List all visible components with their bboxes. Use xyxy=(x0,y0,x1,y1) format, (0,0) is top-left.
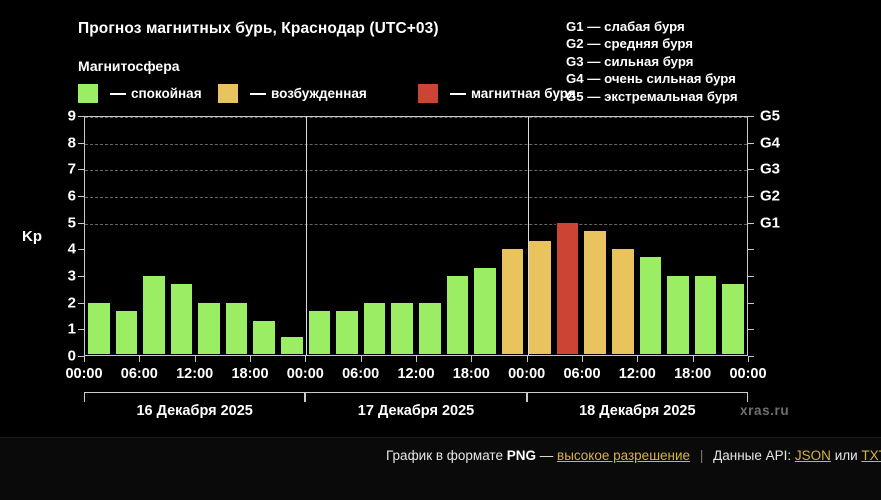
x-tick-label: 18:00 xyxy=(453,366,490,382)
y-tick-7: 7 xyxy=(42,161,76,178)
x-tick-mark xyxy=(195,356,196,362)
bar[interactable] xyxy=(583,230,607,355)
bar[interactable] xyxy=(639,256,663,355)
footer-png-prefix: График в формате xyxy=(386,448,503,463)
x-tick-label: 00:00 xyxy=(508,366,545,382)
g-scale-line-1: G1 — слабая буря xyxy=(566,18,738,35)
bar-cell xyxy=(223,117,251,355)
bar[interactable] xyxy=(280,336,304,355)
bar[interactable] xyxy=(473,267,497,355)
bar[interactable] xyxy=(390,302,414,355)
y-tick-4: 4 xyxy=(42,241,76,258)
right-tick-G2: G2 xyxy=(760,188,780,205)
x-tick-label: 18:00 xyxy=(231,366,268,382)
y-tick-3: 3 xyxy=(42,268,76,285)
y-tick-5: 5 xyxy=(42,214,76,231)
high-resolution-link[interactable]: высокое разрешение xyxy=(557,448,690,463)
x-tick-label: 06:00 xyxy=(563,366,600,382)
legend-dash-icon xyxy=(110,93,126,95)
footer-separator: | xyxy=(694,448,710,463)
legend-label-storm: магнитная буря xyxy=(471,86,576,101)
bar[interactable] xyxy=(115,310,139,355)
bar[interactable] xyxy=(225,302,249,355)
y-tick-0: 0 xyxy=(42,348,76,365)
y-axis-right: G1G2G3G4G5 xyxy=(760,116,810,356)
magnetosphere-label: Магнитосфера xyxy=(78,58,180,74)
right-tick-mark xyxy=(748,329,754,330)
x-tick-mark xyxy=(361,356,362,362)
legend-swatch-excited xyxy=(218,84,238,103)
right-tick-mark xyxy=(748,196,754,197)
x-tick-label: 00:00 xyxy=(729,366,766,382)
x-tick-mark xyxy=(84,356,85,362)
bar-cell xyxy=(499,117,527,355)
bar-cell xyxy=(388,117,416,355)
legend-label-excited: возбужденная xyxy=(271,86,367,101)
bar-cell xyxy=(168,117,196,355)
bar[interactable] xyxy=(528,240,552,355)
day-label: 16 Декабря 2025 xyxy=(136,403,252,419)
x-tick-label: 06:00 xyxy=(121,366,158,382)
bar-cell xyxy=(416,117,444,355)
legend-dash-icon xyxy=(450,93,466,95)
day-bracket xyxy=(84,392,305,402)
day-brackets: 16 Декабря 202517 Декабря 202518 Декабря… xyxy=(84,392,748,424)
footer-bar: График в формате PNG — высокое разрешени… xyxy=(0,437,881,500)
x-axis-labels: 00:0006:0012:0018:0000:0006:0012:0018:00… xyxy=(0,366,881,386)
x-tick-label: 12:00 xyxy=(397,366,434,382)
bar-cell xyxy=(250,117,278,355)
g-scale-legend: G1 — слабая буряG2 — средняя буряG3 — си… xyxy=(566,18,738,105)
day-separator xyxy=(528,117,529,355)
y-tick-9: 9 xyxy=(42,108,76,125)
x-tick-mark xyxy=(748,356,749,362)
x-tick-mark xyxy=(637,356,638,362)
bar[interactable] xyxy=(252,320,276,355)
bar[interactable] xyxy=(694,275,718,355)
bar-cell xyxy=(609,117,637,355)
bar[interactable] xyxy=(611,248,635,355)
y-axis-left: 0123456789 xyxy=(42,116,76,356)
legend-dash-icon xyxy=(250,93,266,95)
bar[interactable] xyxy=(308,310,332,355)
page-title: Прогноз магнитных бурь, Краснодар (UTC+0… xyxy=(78,20,439,38)
bar-cell xyxy=(664,117,692,355)
legend-label-calm: спокойная xyxy=(131,86,202,101)
bar[interactable] xyxy=(446,275,470,355)
day-separator xyxy=(306,117,307,355)
g-scale-line-5: G5 — экстремальная буря xyxy=(566,88,738,105)
bar[interactable] xyxy=(335,310,359,355)
bar-cell xyxy=(637,117,665,355)
g-scale-line-2: G2 — средняя буря xyxy=(566,35,738,52)
right-tick-mark xyxy=(748,223,754,224)
bar[interactable] xyxy=(197,302,221,355)
bar[interactable] xyxy=(666,275,690,355)
legend-item-calm: спокойная xyxy=(78,84,218,103)
bar-cell xyxy=(526,117,554,355)
x-tick-mark xyxy=(416,356,417,362)
right-tick-G5: G5 xyxy=(760,108,780,125)
bar-cell xyxy=(85,117,113,355)
bar[interactable] xyxy=(87,302,111,355)
json-link[interactable]: JSON xyxy=(795,448,831,463)
footer-or: или xyxy=(835,448,858,463)
bar-cell xyxy=(554,117,582,355)
x-tick-mark xyxy=(527,356,528,362)
watermark: xras.ru xyxy=(740,403,789,418)
bar-cell xyxy=(719,117,747,355)
bar-cell xyxy=(195,117,223,355)
x-tick-mark xyxy=(305,356,306,362)
footer-text: График в формате PNG — высокое разрешени… xyxy=(386,448,881,463)
x-tick-label: 00:00 xyxy=(287,366,324,382)
x-axis-ticks xyxy=(84,356,748,363)
x-tick-label: 00:00 xyxy=(65,366,102,382)
x-tick-label: 06:00 xyxy=(342,366,379,382)
bar[interactable] xyxy=(721,283,745,355)
bar[interactable] xyxy=(363,302,387,355)
x-tick-mark xyxy=(139,356,140,362)
bar-cell xyxy=(581,117,609,355)
right-tick-mark xyxy=(748,143,754,144)
bar-cell xyxy=(692,117,720,355)
bar-cell xyxy=(471,117,499,355)
bar-series xyxy=(85,117,747,355)
txt-link[interactable]: TXT xyxy=(861,448,881,463)
legend-swatch-storm xyxy=(418,84,438,103)
x-tick-mark xyxy=(471,356,472,362)
x-tick-label: 18:00 xyxy=(674,366,711,382)
legend-item-excited: возбужденная xyxy=(218,84,418,103)
right-tick-mark xyxy=(748,249,754,250)
right-tick-mark xyxy=(748,303,754,304)
bar[interactable] xyxy=(142,275,166,355)
day-bracket xyxy=(305,392,526,402)
day-label: 17 Декабря 2025 xyxy=(358,403,474,419)
right-tick-mark xyxy=(748,169,754,170)
x-tick-mark xyxy=(693,356,694,362)
right-tick-mark xyxy=(748,116,754,117)
plot-area xyxy=(84,116,748,356)
bar[interactable] xyxy=(418,302,442,355)
magnetic-storm-forecast-chart: Прогноз магнитных бурь, Краснодар (UTC+0… xyxy=(0,0,881,500)
bar-cell xyxy=(278,117,306,355)
bar-cell xyxy=(113,117,141,355)
bar-cell xyxy=(306,117,334,355)
bar[interactable] xyxy=(556,222,580,355)
x-tick-label: 12:00 xyxy=(176,366,213,382)
y-axis-title: Kp xyxy=(22,228,42,245)
right-tick-G3: G3 xyxy=(760,161,780,178)
right-tick-G4: G4 xyxy=(760,134,780,151)
x-tick-label: 12:00 xyxy=(619,366,656,382)
day-bracket xyxy=(527,392,748,402)
bar-cell xyxy=(333,117,361,355)
x-tick-mark xyxy=(582,356,583,362)
legend-swatch-calm xyxy=(78,84,98,103)
bar-cell xyxy=(361,117,389,355)
x-tick-mark xyxy=(250,356,251,362)
bar[interactable] xyxy=(170,283,194,355)
footer-dash: — xyxy=(540,448,554,463)
right-tick-mark xyxy=(748,276,754,277)
footer-png-label: PNG xyxy=(507,448,536,463)
g-scale-line-3: G3 — сильная буря xyxy=(566,53,738,70)
g-scale-line-4: G4 — очень сильная буря xyxy=(566,70,738,87)
bar-cell xyxy=(140,117,168,355)
day-label: 18 Декабря 2025 xyxy=(579,403,695,419)
y-tick-8: 8 xyxy=(42,134,76,151)
bar[interactable] xyxy=(501,248,525,355)
footer-api-prefix: Данные API: xyxy=(713,448,791,463)
y-tick-1: 1 xyxy=(42,321,76,338)
magnetosphere-legend: спокойнаявозбужденнаямагнитная буря xyxy=(78,84,618,103)
y-tick-2: 2 xyxy=(42,294,76,311)
right-tick-G1: G1 xyxy=(760,214,780,231)
bar-cell xyxy=(444,117,472,355)
y-tick-6: 6 xyxy=(42,188,76,205)
